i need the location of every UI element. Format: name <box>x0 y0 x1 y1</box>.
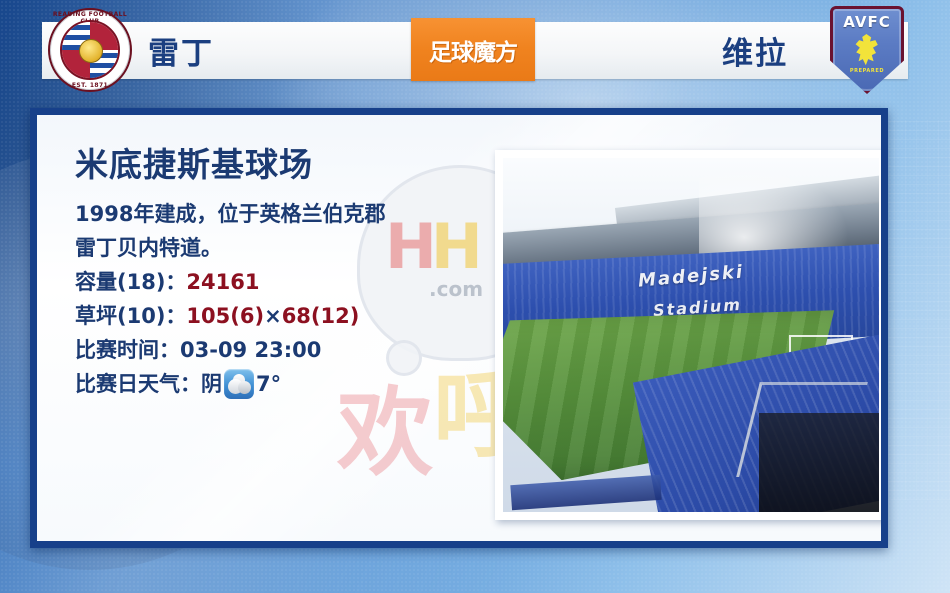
crest-arc-bottom-label: EST. 1871 <box>48 82 132 89</box>
weather-label: 比赛日天气： <box>75 367 201 401</box>
capacity-label: 容量(18)： <box>75 270 186 294</box>
away-team-name: 维拉 <box>722 28 788 73</box>
stadium-description-line-1: 1998年建成，位于英格兰伯克郡 <box>75 197 495 231</box>
crest-initials-label: AVFC <box>830 13 904 31</box>
pitch-row: 草坪(10)：105(6)×68(12) <box>75 299 495 333</box>
pitch-length-value: 105(6) <box>186 304 264 328</box>
match-time-value: 03-09 23:00 <box>180 338 321 362</box>
aston-villa-crest-icon: AVFC PREPARED <box>830 6 904 94</box>
weather-row: 比赛日天气：阴7° <box>75 367 495 401</box>
crest-center-disc <box>79 39 103 63</box>
pitch-label: 草坪(10)： <box>75 304 186 328</box>
stadium-description-line-2: 雷丁贝内特道。 <box>75 231 495 265</box>
capacity-row: 容量(18)：24161 <box>75 265 495 299</box>
capacity-value: 24161 <box>186 270 259 294</box>
match-header: READING FOOTBALL CLUB EST. 1871 雷丁 足球魔方 … <box>0 0 950 100</box>
crest-motto-label: PREPARED <box>830 68 904 74</box>
home-team-name: 雷丁 <box>148 28 214 73</box>
pitch-width-value: 68(12) <box>282 304 360 328</box>
stadium-info-block: 米底捷斯基球场 1998年建成，位于英格兰伯克郡 雷丁贝内特道。 容量(18)：… <box>75 147 495 401</box>
content-panel: HH .com 欢 呼 米底捷斯基球场 1998年建成，位于英格兰伯克郡 雷丁贝… <box>37 115 881 541</box>
cloud-puff-right <box>238 381 251 394</box>
reading-fc-crest-icon: READING FOOTBALL CLUB EST. 1871 <box>48 8 132 92</box>
stadium-title: 米底捷斯基球场 <box>75 147 495 183</box>
content-frame: HH .com 欢 呼 米底捷斯基球场 1998年建成，位于英格兰伯克郡 雷丁贝… <box>30 108 888 548</box>
photo-advert-board <box>510 475 662 510</box>
stadium-photo: Madejski Stadium <box>503 158 879 512</box>
pitch-dimension-separator: × <box>264 304 282 328</box>
stadium-photo-card: Madejski Stadium <box>495 150 881 520</box>
match-time-label: 比赛时间： <box>75 338 180 362</box>
weather-condition: 阴 <box>201 367 222 401</box>
crest-inner-ring <box>60 20 120 80</box>
cloudy-weather-icon <box>224 369 254 399</box>
weather-temperature: 7° <box>256 367 281 401</box>
match-time-row: 比赛时间：03-09 23:00 <box>75 333 495 367</box>
stadium-info-card: READING FOOTBALL CLUB EST. 1871 雷丁 足球魔方 … <box>0 0 950 593</box>
site-logo-text: 足球魔方 <box>429 33 517 67</box>
site-logo[interactable]: 足球魔方 <box>411 18 535 81</box>
